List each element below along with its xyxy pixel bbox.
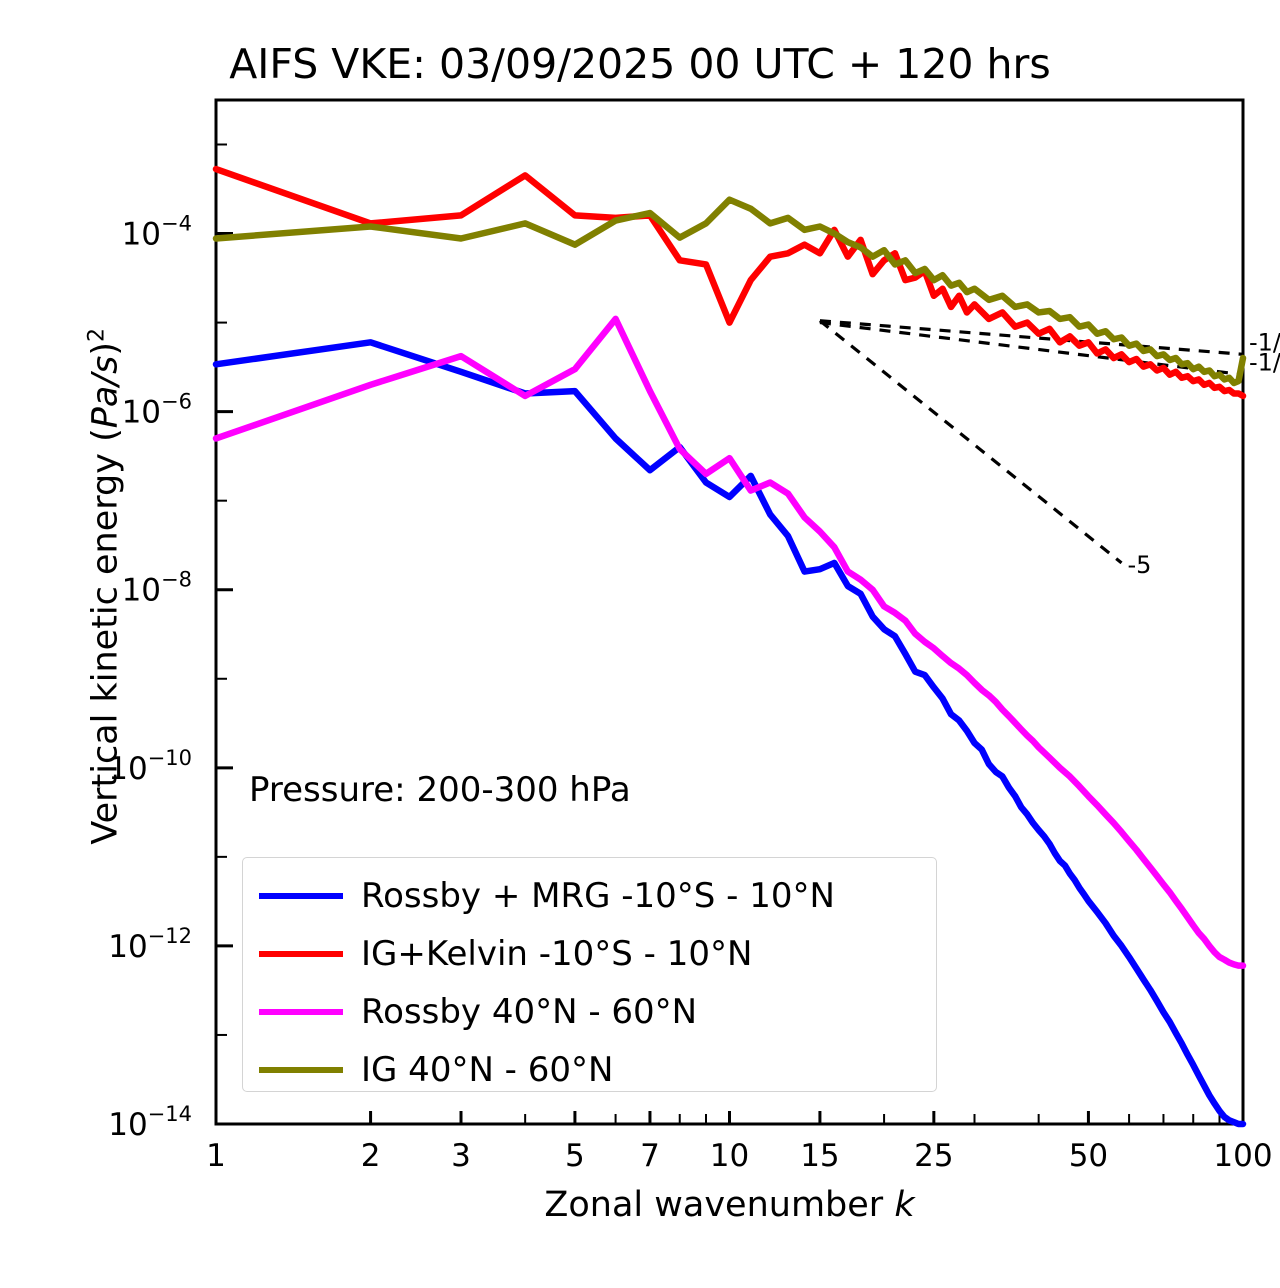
y-tick-label: 10−10: [108, 746, 192, 787]
reference-line--5: [820, 321, 1122, 563]
x-tick-label: 25: [914, 1138, 953, 1174]
legend-item: Rossby 40°N - 60°N: [259, 992, 697, 1032]
legend-label-ig-kelvin: IG+Kelvin -10°S - 10°N: [361, 937, 752, 971]
legend-label-ig-mid: IG 40°N - 60°N: [361, 1053, 613, 1087]
reference-line-label: -5: [1128, 551, 1152, 579]
legend-swatch-ig-kelvin: [259, 951, 343, 957]
series-line: [216, 200, 1243, 383]
x-tick-label: 5: [565, 1138, 585, 1174]
x-tick-label: 100: [1213, 1138, 1272, 1174]
y-tick-label: 10−8: [122, 568, 192, 609]
y-tick-label: 10−4: [122, 212, 192, 253]
legend-swatch-rossby-mrg: [259, 893, 343, 899]
pressure-annotation: Pressure: 200-300 hPa: [249, 770, 631, 810]
x-tick-label: 3: [451, 1138, 471, 1174]
y-tick-label: 10−12: [108, 924, 192, 965]
legend-item: Rossby + MRG -10°S - 10°N: [259, 876, 835, 916]
legend-swatch-ig-mid: [259, 1067, 343, 1073]
x-tick-label: 50: [1069, 1138, 1108, 1174]
x-tick-label: 2: [361, 1138, 381, 1174]
x-tick-label: 7: [640, 1138, 660, 1174]
legend-label-rossby-mid: Rossby 40°N - 60°N: [361, 995, 697, 1029]
legend-item: IG+Kelvin -10°S - 10°N: [259, 934, 752, 974]
legend-item: IG 40°N - 60°N: [259, 1050, 613, 1090]
x-tick-label: 10: [710, 1138, 749, 1174]
y-tick-label: 10−14: [108, 1102, 192, 1143]
chart-legend: Rossby + MRG -10°S - 10°N IG+Kelvin -10°…: [242, 857, 937, 1092]
x-tick-label: 15: [800, 1138, 839, 1174]
legend-label-rossby-mrg: Rossby + MRG -10°S - 10°N: [361, 879, 835, 913]
legend-swatch-rossby-mid: [259, 1009, 343, 1015]
y-tick-label: 10−6: [122, 390, 192, 431]
x-tick-label: 1: [206, 1138, 226, 1174]
chart-canvas: 123571015255010010−410−610−810−1010−1210…: [0, 0, 1280, 1288]
reference-line-label: -1/3: [1249, 349, 1280, 377]
